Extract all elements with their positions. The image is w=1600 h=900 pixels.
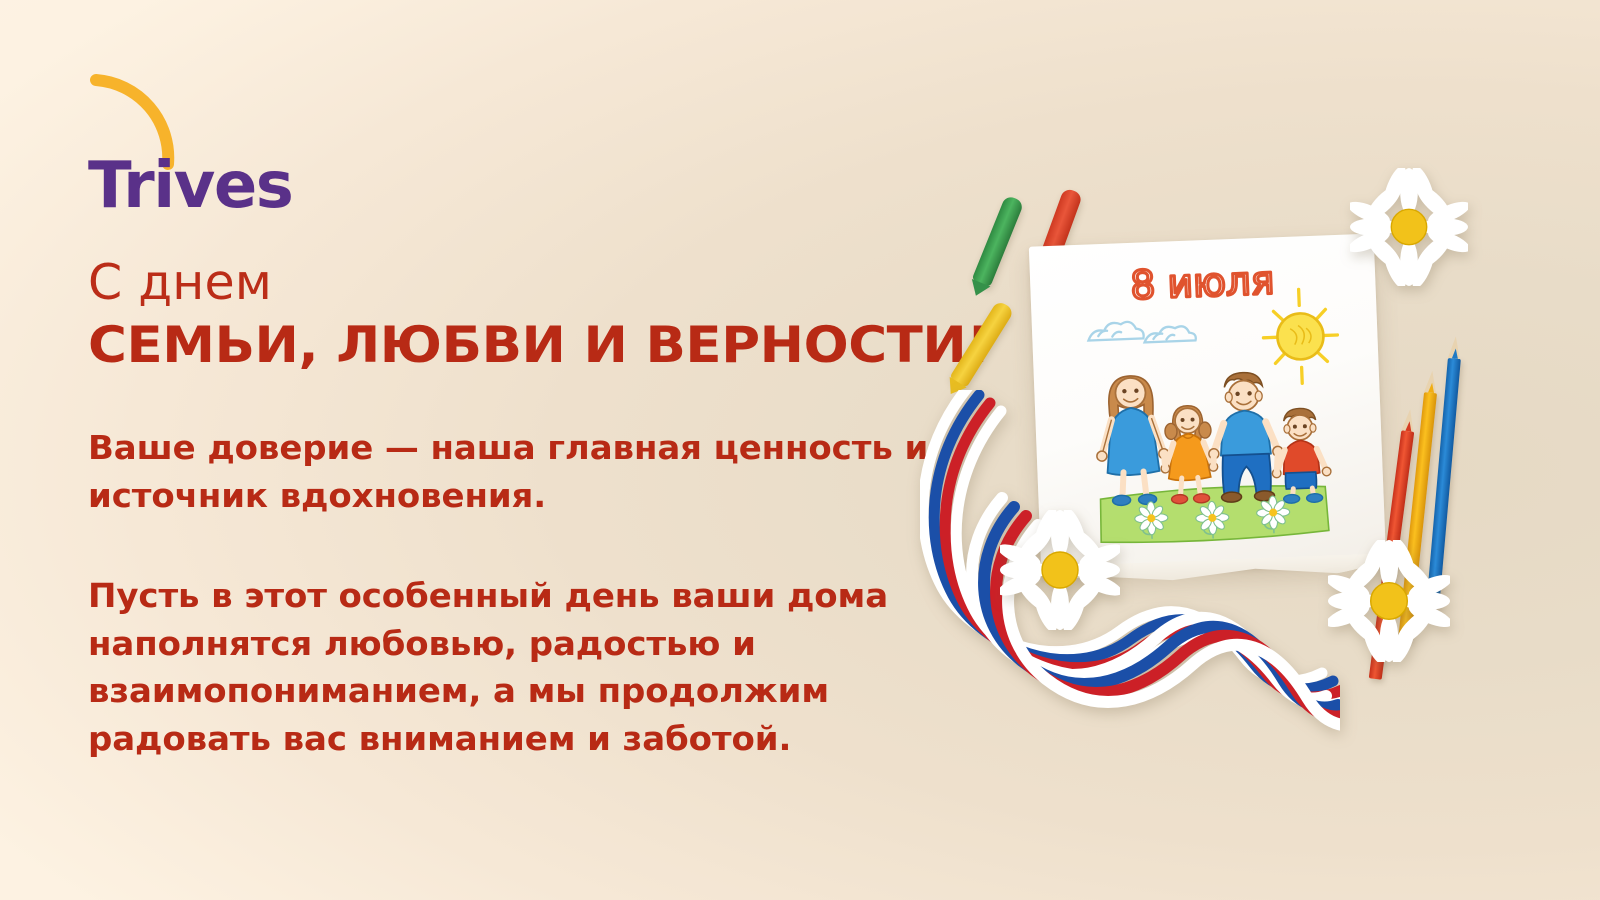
text-column: Trives С днем СЕМЬИ, ЛЮБВИ И ВЕРНОСТИ! В… (88, 0, 968, 900)
drawing-title: 8 июля (1130, 258, 1275, 308)
headline-line-1: С днем (88, 258, 272, 307)
daisy-flower-icon (1328, 540, 1450, 662)
photo-scene: 8 июля (930, 110, 1530, 790)
headline-line-2: СЕМЬИ, ЛЮБВИ И ВЕРНОСТИ! (88, 317, 990, 373)
body-paragraph-2: Пусть в этот особенный день ваши дома на… (88, 572, 994, 762)
brand-wordmark: Trives (88, 154, 292, 218)
greeting-banner: Trives С днем СЕМЬИ, ЛЮБВИ И ВЕРНОСТИ! В… (0, 0, 1600, 900)
crayon-yellow-icon (949, 300, 1015, 389)
daisy-flower-icon (1350, 168, 1468, 286)
brand-logo[interactable]: Trives (88, 72, 418, 212)
crayon-green-icon (971, 195, 1024, 288)
cloud-icon (1088, 319, 1196, 344)
body-paragraph-1: Ваше доверие — наша главная ценность и и… (88, 424, 933, 519)
daisy-flower-icon (1000, 510, 1120, 630)
russian-tricolor-ribbon-icon (920, 390, 1340, 740)
